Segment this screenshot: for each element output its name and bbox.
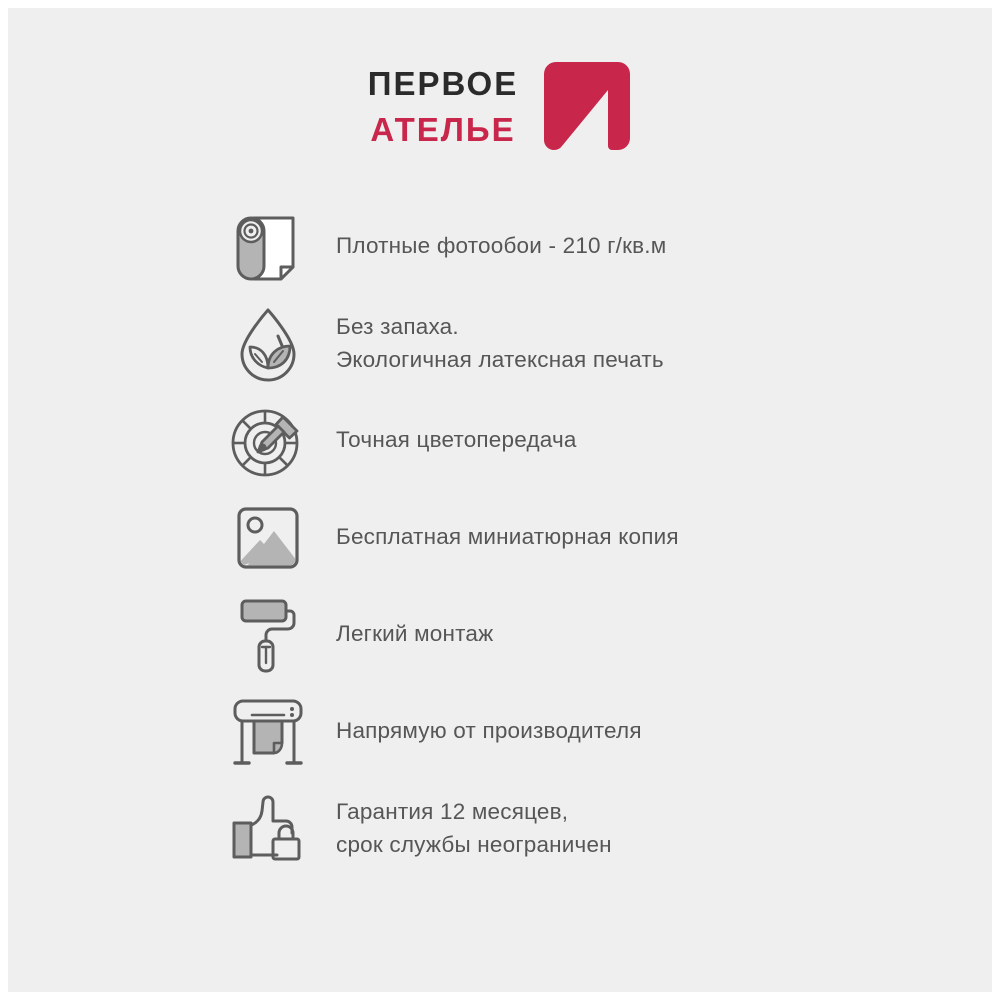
feature-row: Гарантия 12 месяцев, срок службы неогран…: [8, 780, 992, 877]
feature-row: Легкий монтаж: [8, 586, 992, 683]
logo-word-pervoe: ПЕРВОЕ: [368, 67, 518, 100]
logo-word-atelie: АТЕЛЬЕ: [370, 113, 515, 146]
feature-row: Плотные фотообои - 210 г/кв.м: [8, 198, 992, 295]
feature-row: Точная цветопередача: [8, 392, 992, 489]
logo-wordmark: ПЕРВОЕ АТЕЛЬЕ: [368, 67, 518, 146]
feature-row: Бесплатная миниатюрная копия: [8, 489, 992, 586]
color-wheel-eyedropper-icon: [226, 403, 310, 479]
feature-label: Бесплатная миниатюрная копия: [336, 521, 679, 554]
brand-logo: ПЕРВОЕ АТЕЛЬЕ: [8, 60, 992, 152]
eco-drop-leaf-icon: [226, 306, 310, 382]
logo-inner: ПЕРВОЕ АТЕЛЬЕ: [368, 60, 632, 152]
wide-format-plotter-icon: [226, 695, 310, 769]
feature-label: Легкий монтаж: [336, 618, 493, 651]
paint-roller-icon: [226, 595, 310, 675]
feature-label: Без запаха. Экологичная латексная печать: [336, 311, 664, 376]
features-list: Плотные фотообои - 210 г/кв.м Без запаха…: [8, 198, 992, 877]
content-panel: ПЕРВОЕ АТЕЛЬЕ: [8, 8, 992, 992]
picture-frame-icon: [226, 504, 310, 572]
thumbs-up-lock-icon: [226, 791, 310, 867]
feature-row: Напрямую от производителя: [8, 683, 992, 780]
arrow-square-mark-icon: [542, 60, 632, 152]
feature-label: Напрямую от производителя: [336, 715, 642, 748]
feature-row: Без запаха. Экологичная латексная печать: [8, 295, 992, 392]
page-root: ПЕРВОЕ АТЕЛЬЕ: [0, 0, 1000, 1000]
feature-label: Точная цветопередача: [336, 424, 577, 457]
wallpaper-roll-icon: [226, 211, 310, 283]
feature-label: Гарантия 12 месяцев, срок службы неогран…: [336, 796, 612, 861]
feature-label: Плотные фотообои - 210 г/кв.м: [336, 230, 666, 263]
